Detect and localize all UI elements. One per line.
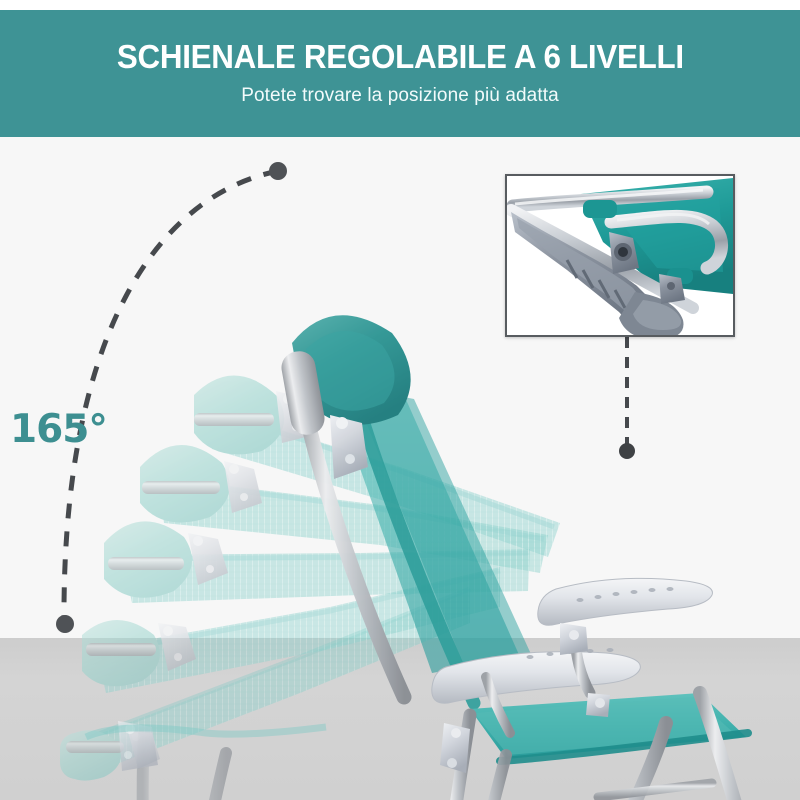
detail-inset-box	[505, 174, 735, 337]
arc-endpoint-dot-bottom	[56, 615, 74, 633]
page-title: SCHIENALE REGOLABILE A 6 LIVELLI	[117, 40, 684, 73]
leader-endpoint-dot	[619, 443, 635, 459]
angle-label: 165°	[10, 407, 107, 452]
ghost-backrest-5	[194, 375, 560, 557]
ghost-backrest-4	[140, 445, 548, 573]
arc-endpoint-dot-top	[269, 162, 287, 180]
angle-arc	[64, 171, 278, 624]
product-scene: 165°	[0, 137, 800, 800]
header-banner: SCHIENALE REGOLABILE A 6 LIVELLI Potete …	[0, 10, 800, 137]
inset-mechanism-image	[507, 176, 733, 335]
page-subtitle: Potete trovare la posizione più adatta	[241, 85, 559, 107]
ghost-backrest-3	[104, 521, 530, 603]
armrest-dimples-rear	[577, 587, 674, 602]
infographic-page: SCHIENALE REGOLABILE A 6 LIVELLI Potete …	[0, 0, 800, 800]
floor-surface	[0, 638, 800, 800]
